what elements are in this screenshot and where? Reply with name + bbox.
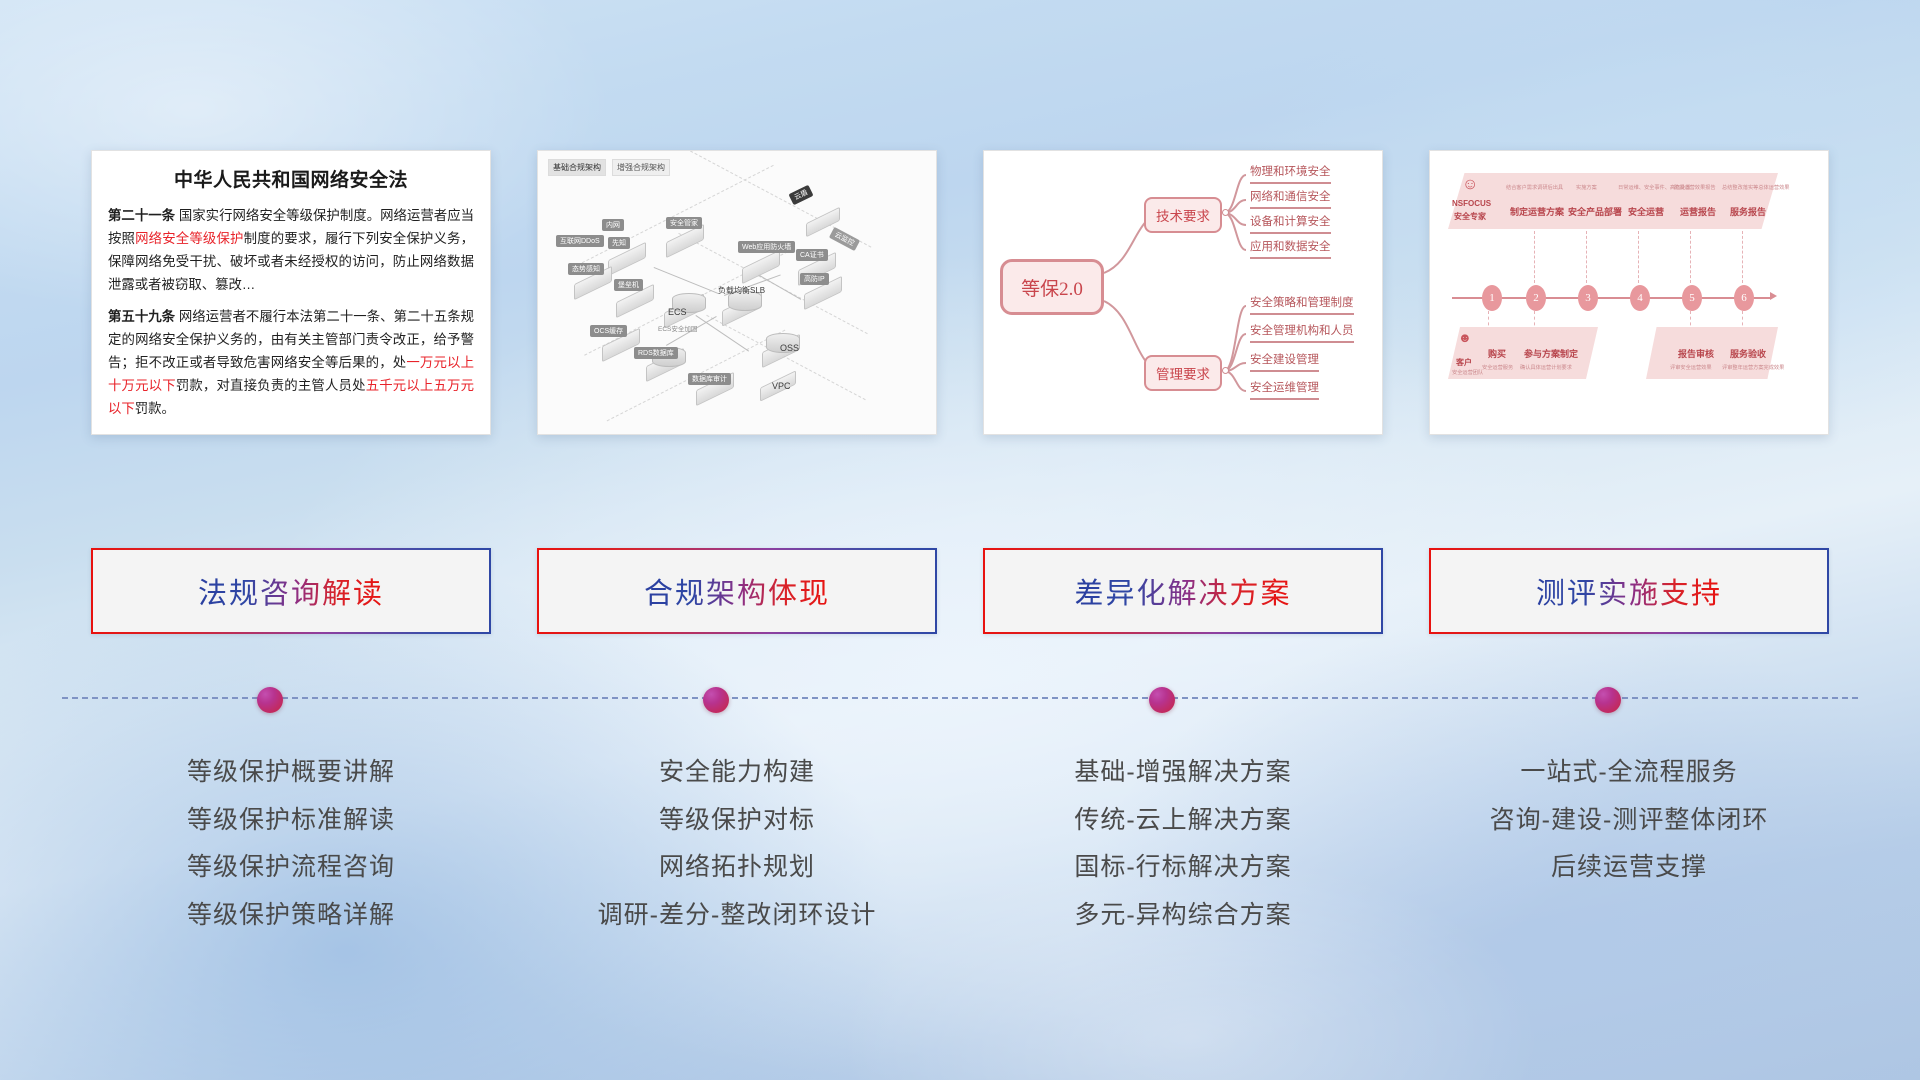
label-vpc: VPC <box>772 381 791 391</box>
mindmap-leaf-device-compute: 设备和计算安全 <box>1250 213 1331 234</box>
customer-person-icon: ☻ <box>1458 331 1472 344</box>
law-card[interactable]: 中华人民共和国网络安全法 第二十一条 国家实行网络安全等级保护制度。网络运营者应… <box>91 150 491 435</box>
law-card-title: 中华人民共和国网络安全法 <box>108 165 474 192</box>
roadmap-bottom-title-4: 服务验收 <box>1730 347 1766 360</box>
roadmap-step-5[interactable]: 5 <box>1682 285 1702 311</box>
title-label-regulation-consulting: 法规咨询解读 <box>198 570 384 612</box>
mindmap-leaf-app-data: 应用和数据安全 <box>1250 238 1331 259</box>
roadmap-bottom-sub-2: 确认具体运营计划要求 <box>1520 364 1572 371</box>
expert-person-icon: ☺ <box>1462 177 1478 193</box>
list-item: 等级保护概要讲解 <box>187 752 395 793</box>
law-article-59: 第五十九条 网络运营者不履行本法第二十一条、第二十五条规定的网络安全保护义务的，… <box>108 305 474 420</box>
tab-enhanced-architecture[interactable]: 增强合规架构 <box>612 159 670 176</box>
title-box-differentiated-solution[interactable]: 差异化解决方案 <box>983 548 1383 634</box>
mindmap-leaf-network-comm: 网络和通信安全 <box>1250 188 1331 209</box>
timeline-dot-3[interactable] <box>1149 687 1175 713</box>
title-box-assessment-support[interactable]: 测评实施支持 <box>1429 548 1829 634</box>
roadmap-bottom-title-3: 报告审核 <box>1678 347 1714 360</box>
list-item: 等级保护对标 <box>659 800 815 841</box>
list-assessment-support: 一站式-全流程服务 咨询-建设-测评整体闭环 后续运营支撑 <box>1429 740 1829 935</box>
label-internal-net: 内网 <box>602 219 624 231</box>
roadmap-card[interactable]: ☺ NSFOCUS 安全专家 结合客户需求调研后出具 制定运营方案 实施方案 安… <box>1429 150 1829 435</box>
label-ecs: ECS <box>668 307 687 317</box>
timeline-dot-1[interactable] <box>257 687 283 713</box>
mindmap-collapse-dot-technical[interactable] <box>1222 209 1229 216</box>
roadmap-top-band <box>1448 173 1778 229</box>
label-cloud-shield: 云盾 <box>788 185 813 205</box>
list-compliance-architecture: 安全能力构建 等级保护对标 网络拓扑规划 调研-差分-整改闭环设计 <box>537 740 937 935</box>
label-gaofang: 高防IP <box>800 273 829 285</box>
roadmap-bottom-brand: 客户 <box>1456 357 1472 368</box>
label-leitai: 堡垒机 <box>614 279 643 291</box>
list-item: 后续运营支撑 <box>1551 847 1707 888</box>
list-item: 国标-行标解决方案 <box>1074 847 1291 888</box>
roadmap-step-4[interactable]: 4 <box>1630 285 1650 311</box>
label-oss: OSS <box>780 343 799 353</box>
roadmap-top-sub-2: 实施方案 <box>1576 184 1597 191</box>
roadmap-top-title-1: 制定运营方案 <box>1510 205 1564 218</box>
architecture-tabs[interactable]: 基础合规架构 增强合规架构 <box>548 159 670 176</box>
roadmap-bottom-sub-3: 评审安全运营效果 <box>1670 364 1712 371</box>
architecture-card[interactable]: 基础合规架构 增强合规架构 <box>537 150 937 435</box>
law-article-59-text-b: 罚款，对直接负责的主管人员处 <box>176 378 366 393</box>
law-article-59-label: 第五十九条 <box>108 309 175 324</box>
law-article-21: 第二十一条 国家实行网络安全等级保护制度。网络运营者应当按照网络安全等级保护制度… <box>108 204 474 296</box>
roadmap-bottom-sub-4: 评审整年运营方案完成效果 <box>1722 364 1784 371</box>
label-guanjia: 安全管家 <box>666 217 702 229</box>
roadmap-top-title-2: 安全产品部署 <box>1568 205 1622 218</box>
mindmap-branch-management: 管理要求 <box>1144 355 1222 391</box>
tab-basic-architecture[interactable]: 基础合规架构 <box>548 159 606 176</box>
list-item: 咨询-建设-测评整体闭环 <box>1490 800 1769 841</box>
roadmap-top-sub-1: 结合客户需求调研后出具 <box>1506 184 1563 191</box>
list-regulation-consulting: 等级保护概要讲解 等级保护标准解读 等级保护流程咨询 等级保护策略详解 <box>91 740 491 935</box>
label-rds: RDS数据库 <box>634 347 678 359</box>
roadmap-brand-sub: 安全专家 <box>1454 211 1486 222</box>
label-slb: 负载均衡SLB <box>718 285 765 296</box>
roadmap-tick-top-1 <box>1534 231 1535 283</box>
roadmap-top-sub-4: 阶段运营效果报告 <box>1674 184 1716 191</box>
law-article-21-highlight: 网络安全等级保护 <box>135 231 244 246</box>
law-article-59-text-c: 罚款。 <box>135 401 175 416</box>
label-waf: Web应用防火墙 <box>738 241 795 253</box>
mindmap-collapse-dot-management[interactable] <box>1222 367 1229 374</box>
roadmap-top-title-3: 安全运营 <box>1628 205 1664 218</box>
list-item: 基础-增强解决方案 <box>1074 752 1291 793</box>
roadmap-bottom-sub-1: 安全运营服务 <box>1482 364 1513 371</box>
title-box-compliance-architecture[interactable]: 合规架构体现 <box>537 548 937 634</box>
roadmap-tick-top-2 <box>1586 231 1587 283</box>
list-item: 等级保护标准解读 <box>187 800 395 841</box>
roadmap-top-title-5: 服务报告 <box>1730 205 1766 218</box>
list-item: 一站式-全流程服务 <box>1520 752 1737 793</box>
roadmap-tick-top-3 <box>1638 231 1639 283</box>
roadmap-bottom-title-1: 购买 <box>1488 347 1506 360</box>
title-label-assessment-support: 测评实施支持 <box>1536 570 1722 612</box>
list-differentiated-solution: 基础-增强解决方案 传统-云上解决方案 国标-行标解决方案 多元-异构综合方案 <box>983 740 1383 935</box>
label-ddos: 互联网DDoS <box>556 235 604 247</box>
mindmap-leaf-org-personnel: 安全管理机构和人员 <box>1250 322 1354 343</box>
roadmap-top-sub-5: 总结整改落实等总体运营效果 <box>1722 184 1789 191</box>
roadmap-top-title-4: 运营报告 <box>1680 205 1716 218</box>
roadmap-tick-top-4 <box>1690 231 1691 283</box>
label-ocs: OCS缓存 <box>590 325 627 337</box>
roadmap-step-6[interactable]: 6 <box>1734 285 1754 311</box>
label-cloud-monitor: 云监控 <box>829 227 860 251</box>
mindmap-leaf-construction-mgmt: 安全建设管理 <box>1250 351 1319 372</box>
detail-lists-row: 等级保护概要讲解 等级保护标准解读 等级保护流程咨询 等级保护策略详解 安全能力… <box>0 740 1920 935</box>
timeline-track <box>62 697 1858 699</box>
title-label-differentiated-solution: 差异化解决方案 <box>1074 570 1291 612</box>
mindmap-card[interactable]: 等保2.0 技术要求 管理要求 物理和环境安 <box>983 150 1383 435</box>
roadmap-bottom-brand-sub: 安全运营团队 <box>1452 369 1483 376</box>
roadmap-bottom-title-2: 参与方案制定 <box>1524 347 1578 360</box>
section-titles-row: 法规咨询解读 合规架构体现 差异化解决方案 测评实施支持 <box>0 548 1920 634</box>
timeline-dot-4[interactable] <box>1595 687 1621 713</box>
timeline-dot-2[interactable] <box>703 687 729 713</box>
roadmap-axis-arrow-icon <box>1770 292 1777 300</box>
connector-line-1 <box>654 267 719 294</box>
list-item: 等级保护流程咨询 <box>187 847 395 888</box>
list-item: 调研-差分-整改闭环设计 <box>598 895 877 936</box>
list-item: 网络拓扑规划 <box>659 847 815 888</box>
list-item: 等级保护策略详解 <box>187 895 395 936</box>
roadmap-step-2[interactable]: 2 <box>1526 285 1546 311</box>
list-item: 传统-云上解决方案 <box>1074 800 1291 841</box>
roadmap-brand: NSFOCUS <box>1452 199 1491 208</box>
mindmap-branch-technical: 技术要求 <box>1144 197 1222 233</box>
title-label-compliance-architecture: 合规架构体现 <box>644 570 830 612</box>
title-box-regulation-consulting[interactable]: 法规咨询解读 <box>91 548 491 634</box>
list-item: 多元-异构综合方案 <box>1074 895 1291 936</box>
slide-canvas: 中华人民共和国网络安全法 第二十一条 国家实行网络安全等级保护制度。网络运营者应… <box>0 0 1920 1080</box>
mindmap-leaf-ops-mgmt: 安全运维管理 <box>1250 379 1319 400</box>
roadmap-step-3[interactable]: 3 <box>1578 285 1598 311</box>
list-item: 安全能力构建 <box>659 752 815 793</box>
label-audit: 数据库审计 <box>688 373 731 385</box>
label-ca: CA证书 <box>796 249 828 261</box>
mindmap-leaf-physical-env: 物理和环境安全 <box>1250 163 1331 184</box>
law-article-21-label: 第二十一条 <box>108 208 175 223</box>
roadmap-tick-top-5 <box>1742 231 1743 283</box>
mindmap-leaf-policy-system: 安全策略和管理制度 <box>1250 294 1354 315</box>
label-ecs-hardening: ECS安全加固 <box>658 323 697 333</box>
roadmap-step-1[interactable]: 1 <box>1482 285 1502 311</box>
label-xianzhi: 先知 <box>608 237 630 249</box>
node-plate-waf <box>742 250 780 285</box>
label-taishi: 态势感知 <box>568 263 604 275</box>
architecture-canvas: 云盾 云监控 安全管家 先知 态势感知 堡垒机 Web应用防火墙 CA证书 高防… <box>546 175 928 426</box>
image-cards-row: 中华人民共和国网络安全法 第二十一条 国家实行网络安全等级保护制度。网络运营者应… <box>0 150 1920 435</box>
